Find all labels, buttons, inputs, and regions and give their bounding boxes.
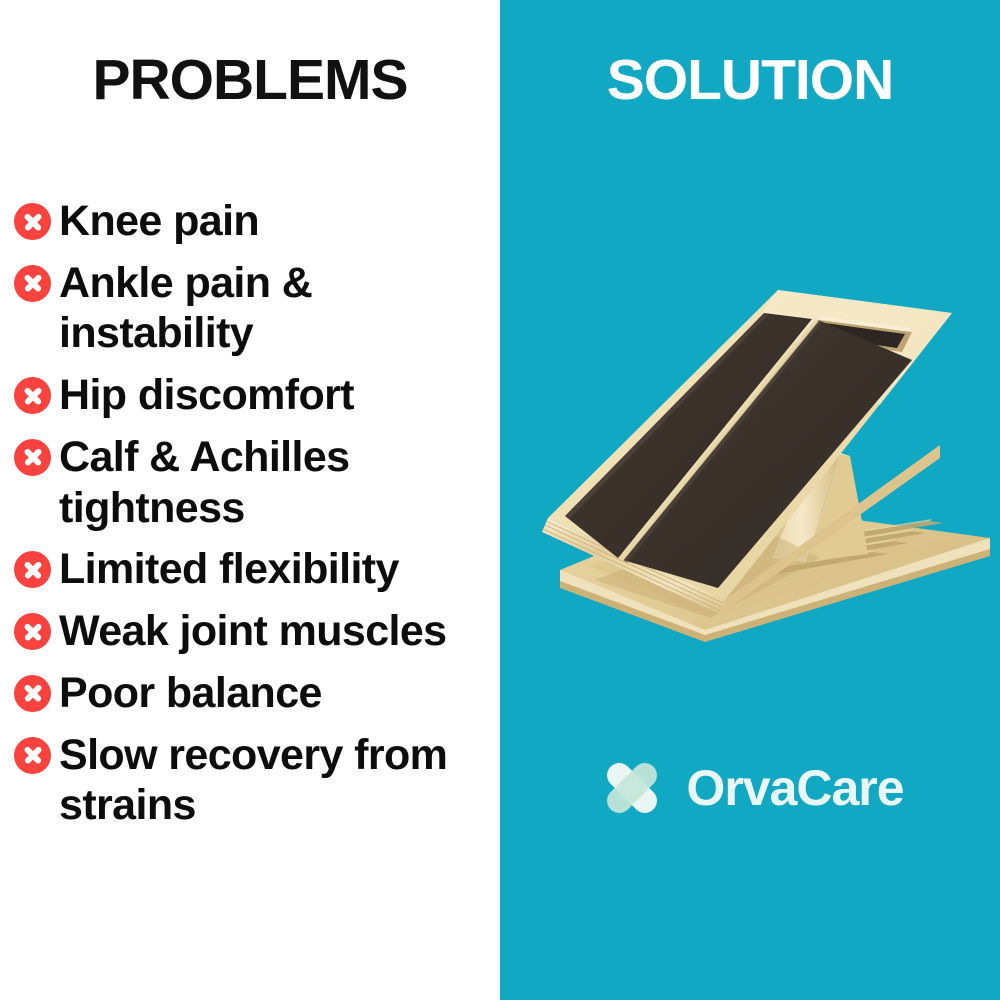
solution-heading: SOLUTION xyxy=(500,52,1000,109)
red-circle-x-icon xyxy=(14,613,51,650)
wooden-slant-board-illustration xyxy=(520,270,990,690)
product-image xyxy=(520,270,990,690)
list-item: Knee pain xyxy=(14,196,500,247)
problems-panel: PROBLEMS Knee pain Ankle pain & instabil… xyxy=(0,0,500,1000)
comparison-infographic: PROBLEMS Knee pain Ankle pain & instabil… xyxy=(0,0,1000,1000)
list-item-label: Limited flexibility xyxy=(59,544,399,595)
list-item: Ankle pain & instability xyxy=(14,258,500,359)
brand-name: OrvaCare xyxy=(686,763,903,813)
red-circle-x-icon xyxy=(14,377,51,414)
list-item-label: Knee pain xyxy=(59,196,259,247)
list-item-label: Weak joint muscles xyxy=(59,606,447,657)
problems-list: Knee pain Ankle pain & instability Hip d… xyxy=(14,196,500,842)
list-item: Slow recovery from strains xyxy=(14,730,500,831)
brand-logo: OrvaCare xyxy=(500,752,1000,824)
list-item-label: Hip discomfort xyxy=(59,370,354,421)
red-circle-x-icon xyxy=(14,439,51,476)
solution-panel: SOLUTION xyxy=(500,0,1000,1000)
list-item-label: Poor balance xyxy=(59,668,322,719)
red-circle-x-icon xyxy=(14,675,51,712)
red-circle-x-icon xyxy=(14,265,51,302)
list-item: Limited flexibility xyxy=(14,544,500,595)
problems-heading: PROBLEMS xyxy=(0,52,500,109)
list-item: Hip discomfort xyxy=(14,370,500,421)
x-cross-logo-icon xyxy=(596,752,668,824)
red-circle-x-icon xyxy=(14,551,51,588)
list-item: Calf & Achilles tightness xyxy=(14,432,500,533)
list-item-label: Calf & Achilles tightness xyxy=(59,432,469,533)
list-item: Poor balance xyxy=(14,668,500,719)
list-item-label: Slow recovery from strains xyxy=(59,730,469,831)
list-item: Weak joint muscles xyxy=(14,606,500,657)
red-circle-x-icon xyxy=(14,203,51,240)
list-item-label: Ankle pain & instability xyxy=(59,258,469,359)
red-circle-x-icon xyxy=(14,737,51,774)
